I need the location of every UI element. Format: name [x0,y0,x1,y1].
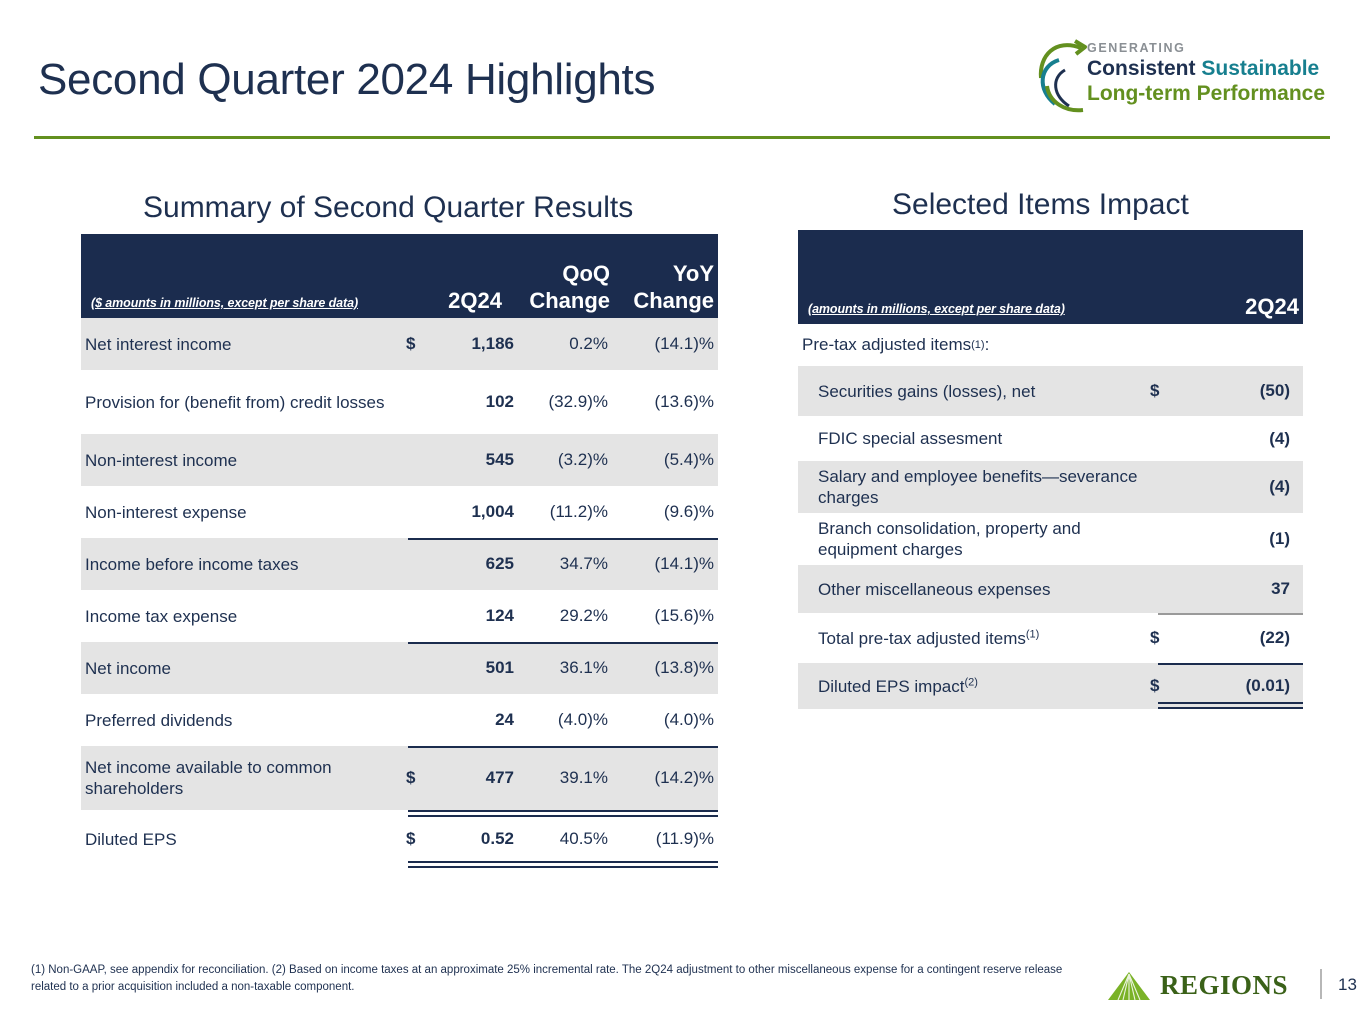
section-label-text: Pre-tax adjusted items [802,335,971,355]
row-label: Non-interest income [81,450,406,471]
table-row: Income tax expense12429.2%(15.6)% [81,590,718,642]
row-value-yoy-change: (4.0)% [614,710,718,730]
table-header: ($ amounts in millions, except per share… [81,234,718,318]
row-value-yoy-change: (13.6)% [614,392,718,412]
row-value-2q24: 1,186 [432,334,514,354]
row-label: Income tax expense [81,606,406,627]
page-number: 13 [1338,975,1357,995]
row-label: Income before income taxes [81,554,406,575]
row-label: Securities gains (losses), net [798,381,1138,402]
row-value-yoy-change: (14.2)% [614,768,718,788]
row-value-qoq-change: 36.1% [514,658,614,678]
table-row: Net income available to common sharehold… [81,746,718,810]
generating-tagline-logo: GENERATING Consistent Sustainable Long-t… [1035,34,1325,120]
title-divider [34,136,1330,139]
row-value-2q24: 37 [1178,579,1296,599]
table-row: FDIC special assesment(4) [798,416,1303,461]
right-panel-heading: Selected Items Impact [892,188,1189,222]
row-value-qoq-change: (11.2)% [514,502,614,522]
selected-items-impact-table: (amounts in millions, except per share d… [798,230,1303,709]
column-header-yoy-change: YoY Change [609,260,714,314]
row-currency-symbol: $ [406,768,432,788]
table-rule [1158,663,1303,665]
row-currency-symbol: $ [406,829,432,849]
tagline-line-longterm: Long-term Performance [1087,81,1325,106]
yoy-line2: Change [633,288,714,313]
row-label: Net income [81,658,406,679]
row-value-2q24: 1,004 [432,502,514,522]
table-rule [408,746,718,748]
row-value-2q24: (4) [1178,429,1296,449]
row-value-2q24: (4) [1178,477,1296,497]
row-value-2q24: (22) [1178,628,1296,648]
table-rule [1158,613,1303,615]
row-label: Branch consolidation, property and equip… [798,518,1138,560]
row-value-2q24: 24 [432,710,514,730]
header-units-note: (amounts in millions, except per share d… [808,302,1065,316]
row-footnote-ref: (1) [1026,628,1039,640]
table-row: Diluted EPS$0.5240.5%(11.9)% [81,810,718,868]
table-rule [408,538,718,540]
row-currency-symbol: $ [1138,381,1178,401]
row-label: Salary and employee benefits—severance c… [798,466,1138,508]
row-currency-symbol: $ [406,334,432,354]
section-label-row: Pre-tax adjusted items(1): [798,324,1303,366]
regions-pyramid-icon [1104,966,1154,1006]
table-row: Non-interest expense1,004(11.2)%(9.6)% [81,486,718,538]
tagline-word-consistent: Consistent [1087,57,1196,80]
row-value-qoq-change: (32.9)% [514,392,614,412]
column-header-qoq-change: QoQ Change [505,260,610,314]
column-header-2q24: 2Q24 [382,287,502,314]
row-value-qoq-change: (3.2)% [514,450,614,470]
header-units-note: ($ amounts in millions, except per share… [91,296,358,310]
row-value-2q24: 501 [432,658,514,678]
row-label: Non-interest expense [81,502,406,523]
row-label: Net income available to common sharehold… [81,757,406,799]
row-value-yoy-change: (11.9)% [614,829,718,849]
table-rule [408,642,718,644]
row-value-2q24: 102 [432,392,514,412]
row-label: Diluted EPS [81,829,406,850]
row-value-qoq-change: 34.7% [514,554,614,574]
row-value-yoy-change: (13.8)% [614,658,718,678]
table-row: Total pre-tax adjusted items(1)$(22) [798,613,1303,663]
row-currency-symbol: $ [1138,628,1178,648]
table-row: Preferred dividends24(4.0)%(4.0)% [81,694,718,746]
footnote: (1) Non-GAAP, see appendix for reconcili… [31,962,1071,996]
column-header-2q24: 2Q24 [1179,293,1299,320]
row-value-yoy-change: (9.6)% [614,502,718,522]
table-header: (amounts in millions, except per share d… [798,230,1303,324]
logo-divider [1320,969,1322,999]
row-value-2q24: 477 [432,768,514,788]
slide: Second Quarter 2024 Highlights GENERATIN… [0,0,1365,1024]
row-value-qoq-change: 0.2% [514,334,614,354]
tagline-word-sustainable: Sustainable [1201,57,1319,80]
row-label: FDIC special assesment [798,428,1138,449]
row-value-2q24: 625 [432,554,514,574]
row-label: Net interest income [81,334,406,355]
table-row: Non-interest income545(3.2)%(5.4)% [81,434,718,486]
row-label: Other miscellaneous expenses [798,579,1138,600]
row-value-qoq-change: 29.2% [514,606,614,626]
qoq-line2: Change [529,288,610,313]
row-value-yoy-change: (14.1)% [614,334,718,354]
row-value-qoq-change: 39.1% [514,768,614,788]
row-label: Total pre-tax adjusted items(1) [798,628,1138,649]
table-row: Branch consolidation, property and equip… [798,513,1303,565]
left-panel-heading: Summary of Second Quarter Results [143,191,633,225]
table-row: Diluted EPS impact(2)$(0.01) [798,663,1303,709]
table-row: Provision for (benefit from) credit loss… [81,370,718,434]
section-label-colon: : [985,335,990,355]
table-row: Salary and employee benefits—severance c… [798,461,1303,513]
row-label: Provision for (benefit from) credit loss… [81,392,406,413]
regions-logo: REGIONS 13 [1104,966,1154,1008]
row-value-2q24: (0.01) [1178,676,1296,696]
row-value-2q24: 0.52 [432,829,514,849]
row-value-2q24: 545 [432,450,514,470]
table-row: Income before income taxes62534.7%(14.1)… [81,538,718,590]
table-rule [408,861,718,868]
row-value-2q24: (50) [1178,381,1296,401]
row-value-yoy-change: (14.1)% [614,554,718,574]
table-rule [408,810,718,817]
qoq-line1: QoQ [562,261,610,286]
row-value-2q24: (1) [1178,529,1296,549]
row-value-qoq-change: 40.5% [514,829,614,849]
table-row: Securities gains (losses), net$(50) [798,366,1303,416]
table-row: Net income50136.1%(13.8)% [81,642,718,694]
row-value-qoq-change: (4.0)% [514,710,614,730]
table-row: Other miscellaneous expenses37 [798,565,1303,613]
row-label: Diluted EPS impact(2) [798,676,1138,697]
page-title: Second Quarter 2024 Highlights [38,55,655,105]
yoy-line1: YoY [673,261,714,286]
row-value-yoy-change: (5.4)% [614,450,718,470]
table-rule [1158,702,1303,709]
swoosh-arcs-icon [1035,34,1095,120]
table-row: Net interest income$1,1860.2%(14.1)% [81,318,718,370]
row-value-yoy-change: (15.6)% [614,606,718,626]
row-currency-symbol: $ [1138,676,1178,696]
row-footnote-ref: (2) [964,676,977,688]
regions-wordmark: REGIONS [1160,970,1288,1001]
row-label: Preferred dividends [81,710,406,731]
summary-results-table: ($ amounts in millions, except per share… [81,234,718,868]
tagline-line-generating: GENERATING [1087,40,1325,56]
row-value-2q24: 124 [432,606,514,626]
